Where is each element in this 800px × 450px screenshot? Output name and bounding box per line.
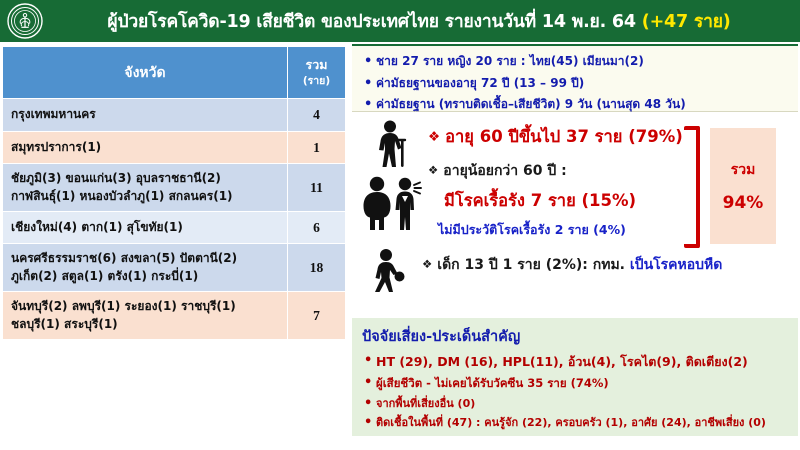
age-breakdown-panel: อายุ 60 ปีขึ้นไป 37 ราย (79%) อายุน้อยกว…: [352, 112, 798, 318]
table-row: กรุงเทพมหานคร 4: [3, 99, 346, 132]
page-title: ผู้ป่วยโรคโควิด-19 เสียชีวิต ของประเทศไท…: [44, 7, 800, 35]
elderly-person-with-cane-icon: [358, 118, 420, 170]
column-header-total: รวม (ราย): [288, 47, 346, 99]
combined-total-value: 94%: [723, 193, 764, 213]
province-table: จังหวัด รวม (ราย) กรุงเทพมหานคร 4 สมุทรป…: [2, 46, 346, 340]
table-row: จันทบุรี(2) ลพบุรี(1) ระยอง(1) ราชบุรี(1…: [3, 292, 346, 340]
chronic-disease-stat: มีโรคเรื้อรัง 7 ราย (15%): [444, 188, 636, 214]
cell-province: นครศรีธรรมราช(6) สงขลา(5) ปัตตานี(2) ภูเ…: [3, 244, 288, 292]
list-item: ค่ามัธยฐานของอายุ 72 ปี (13 – 99 ปี): [362, 73, 792, 95]
no-chronic-disease-stat: ไม่มีประวัติโรคเรื้อรัง 2 ราย (4%): [438, 220, 626, 240]
combined-total-label: รวม: [731, 159, 756, 181]
grouping-bracket: [684, 126, 700, 248]
province-table-wrapper: จังหวัด รวม (ราย) กรุงเทพมหานคร 4 สมุทรป…: [2, 46, 346, 340]
risk-factors-list: HT (29), DM (16), HPL(11), อ้วน(4), โรคไ…: [362, 351, 790, 433]
list-item: ชาย 27 ราย หญิง 20 ราย : ไทย(45) เมียนมา…: [362, 51, 792, 73]
table-row: ชัยภูมิ(3) ขอนแก่น(3) อุบลราชธานี(2) กาฬ…: [3, 164, 346, 212]
list-item: ติดเชื้อในพื้นที่ (47) : คนรู้จัก (22), …: [362, 413, 790, 433]
cell-total: 6: [288, 211, 346, 244]
table-row: นครศรีธรรมราช(6) สงขลา(5) ปัตตานี(2) ภูเ…: [3, 244, 346, 292]
table-row: สมุทรปราการ(1) 1: [3, 131, 346, 164]
column-header-total-unit: (ราย): [290, 74, 343, 88]
cell-total: 1: [288, 131, 346, 164]
province-table-body: กรุงเทพมหานคร 4 สมุทรปราการ(1) 1 ชัยภูมิ…: [3, 99, 346, 340]
column-header-total-label: รวม: [306, 57, 328, 72]
child-case-stat: เด็ก 13 ปี 1 ราย (2%): กทม. เป็นโรคหอบหื…: [422, 254, 722, 276]
cell-total: 7: [288, 292, 346, 340]
list-item: จากพื้นที่เสี่ยงอื่น (0): [362, 394, 790, 414]
elderly-death-stat: อายุ 60 ปีขึ้นไป 37 ราย (79%): [428, 124, 683, 150]
obese-and-coughing-person-icon: [356, 174, 426, 234]
page-title-main: ผู้ป่วยโรคโควิด-19 เสียชีวิต ของประเทศไท…: [107, 12, 641, 32]
cell-total: 18: [288, 244, 346, 292]
column-header-province: จังหวัด: [3, 47, 288, 99]
infographic-page: ผู้ป่วยโรคโควิด-19 เสียชีวิต ของประเทศไท…: [0, 0, 800, 450]
table-row: เชียงใหม่(4) ตาก(1) สุโขทัย(1) 6: [3, 211, 346, 244]
child-case-condition: เป็นโรคหอบหืด: [630, 257, 723, 273]
list-item: HT (29), DM (16), HPL(11), อ้วน(4), โรคไ…: [362, 351, 790, 373]
table-header-row: จังหวัด รวม (ราย): [3, 47, 346, 99]
cell-province: เชียงใหม่(4) ตาก(1) สุโขทัย(1): [3, 211, 288, 244]
cell-province: สมุทรปราการ(1): [3, 131, 288, 164]
page-header: ผู้ป่วยโรคโควิด-19 เสียชีวิต ของประเทศไท…: [0, 0, 800, 42]
child-with-ball-icon: [362, 246, 414, 296]
summary-facts-list: ชาย 27 ราย หญิง 20 ราย : ไทย(45) เมียนมา…: [362, 51, 792, 116]
risk-factors-title: ปัจจัยเสี่ยง-ประเด็นสำคัญ: [362, 325, 790, 348]
province-table-head: จังหวัด รวม (ราย): [3, 47, 346, 99]
cell-province: จันทบุรี(2) ลพบุรี(1) ระยอง(1) ราชบุรี(1…: [3, 292, 288, 340]
right-column: ชาย 27 ราย หญิง 20 ราย : ไทย(45) เมียนมา…: [352, 44, 798, 448]
cell-province: ชัยภูมิ(3) ขอนแก่น(3) อุบลราชธานี(2) กาฬ…: [3, 164, 288, 212]
risk-factors-panel: ปัจจัยเสี่ยง-ประเด็นสำคัญ HT (29), DM (1…: [352, 318, 798, 436]
page-title-delta-count: (+47 ราย): [642, 12, 731, 32]
ministry-of-public-health-emblem-icon: [6, 2, 44, 40]
cell-total: 11: [288, 164, 346, 212]
child-case-text: เด็ก 13 ปี 1 ราย (2%): กทม.: [437, 257, 630, 273]
summary-facts-panel: ชาย 27 ราย หญิง 20 ราย : ไทย(45) เมียนมา…: [352, 44, 798, 112]
combined-total-badge: รวม 94%: [710, 128, 776, 244]
cell-total: 4: [288, 99, 346, 132]
under-60-label: อายุน้อยกว่า 60 ปี :: [428, 160, 567, 182]
list-item: ผู้เสียชีวิต - ไม่เคยได้รับวัคซีน 35 ราย…: [362, 373, 790, 393]
cell-province: กรุงเทพมหานคร: [3, 99, 288, 132]
